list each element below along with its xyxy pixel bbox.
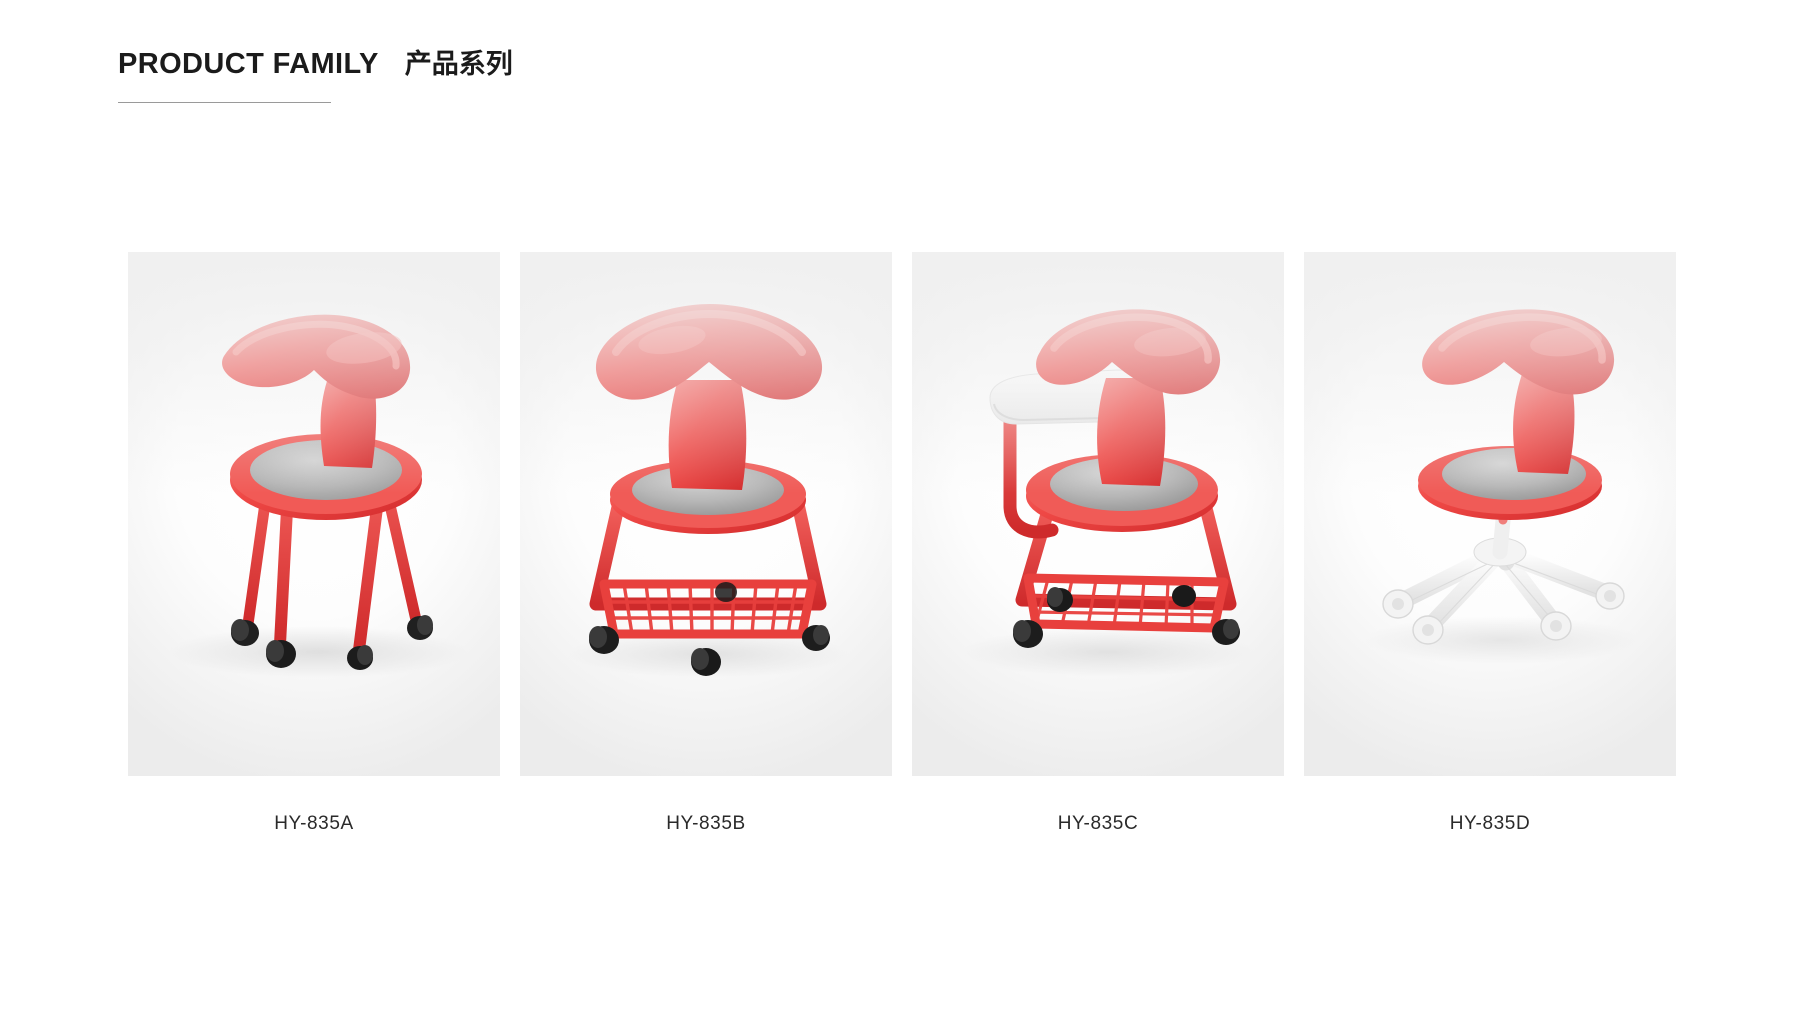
- chair-illustration-b: [520, 252, 892, 776]
- caster-wheel: [1013, 620, 1043, 648]
- chair-illustration-c: [912, 252, 1284, 776]
- caster-wheel: [589, 626, 619, 654]
- product-code-b: HY-835B: [666, 813, 746, 835]
- caster-wheel: [715, 582, 737, 602]
- caster-wheel: [802, 625, 830, 651]
- product-card-d[interactable]: HY-835D: [1294, 252, 1686, 835]
- page-title-chinese: 产品系列: [405, 42, 513, 81]
- caster-wheel: [1596, 583, 1624, 609]
- product-photo-d: [1304, 252, 1676, 776]
- caster-wheel: [1413, 616, 1443, 644]
- caster-wheel: [1383, 590, 1413, 618]
- product-card-a[interactable]: HY-835A: [118, 252, 510, 835]
- product-photo-b: [520, 252, 892, 776]
- product-family-page: PRODUCT FAMILY 产品系列: [0, 0, 1800, 1013]
- title-underline-rule: [118, 102, 331, 103]
- chair-illustration-a: [128, 252, 500, 776]
- caster-wheel: [266, 640, 296, 668]
- product-photo-a: [128, 252, 500, 776]
- product-grid: HY-835A: [118, 252, 1688, 835]
- product-photo-c: [912, 252, 1284, 776]
- page-title: PRODUCT FAMILY 产品系列: [118, 42, 1018, 81]
- caster-wheel: [1541, 612, 1571, 640]
- caster-wheel: [231, 619, 259, 646]
- product-code-c: HY-835C: [1058, 813, 1139, 835]
- caster-wheel: [1212, 619, 1240, 645]
- product-card-b[interactable]: HY-835B: [510, 252, 902, 835]
- page-title-english: PRODUCT FAMILY: [118, 48, 379, 81]
- product-card-c[interactable]: HY-835C: [902, 252, 1294, 835]
- page-header: PRODUCT FAMILY 产品系列: [118, 42, 1018, 103]
- caster-wheel: [691, 648, 721, 676]
- chair-illustration-d: [1304, 252, 1676, 776]
- product-code-d: HY-835D: [1450, 813, 1531, 835]
- caster-wheel: [1172, 585, 1196, 607]
- product-code-a: HY-835A: [274, 813, 354, 835]
